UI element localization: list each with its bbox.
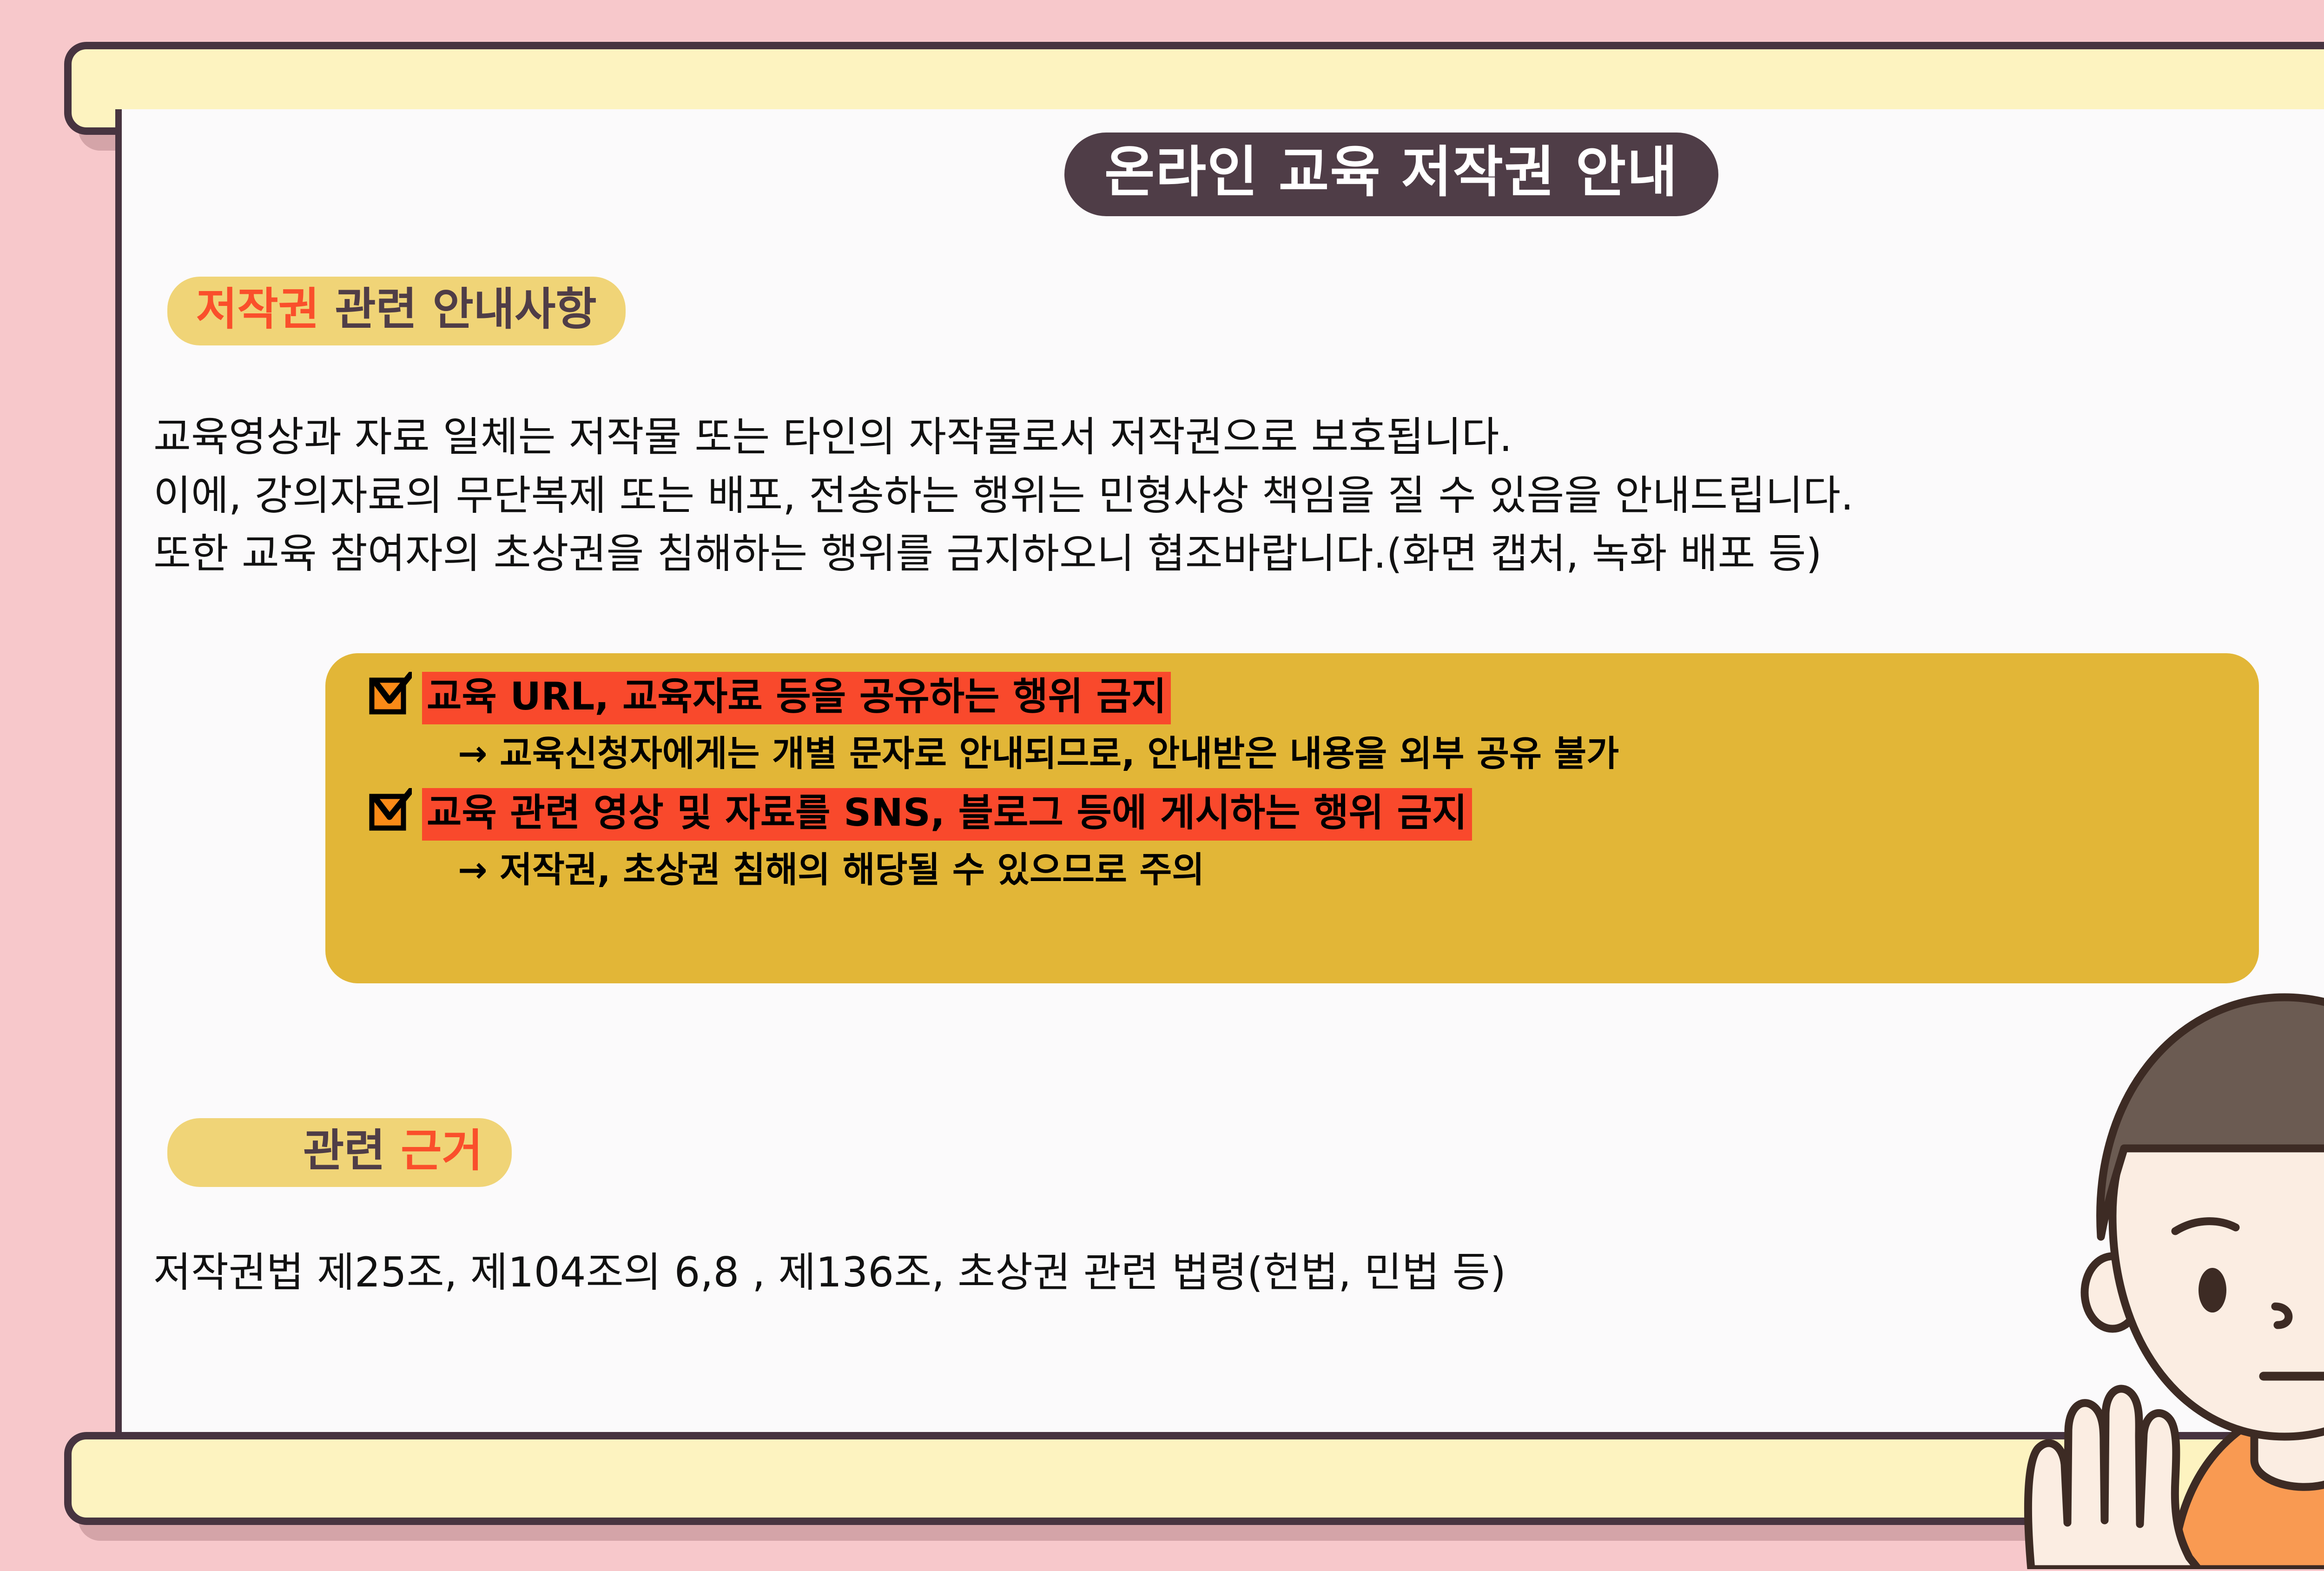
checklist-item-detail: → 저작권, 초상권 침해의 해당될 수 있으므로 주의 (458, 849, 1204, 890)
notice-paragraph: 교육영상과 자료 일체는 저작물 또는 타인의 자작물로서 저작권으로 보호됩니… (153, 409, 2324, 584)
checklist-item: 교육 URL, 교육자료 등을 공유하는 행위 금지 (367, 672, 1171, 724)
checkbox-checked-icon (367, 788, 412, 833)
checklist-item-title: 교육 URL, 교육자료 등을 공유하는 행위 금지 (422, 672, 1171, 724)
section-header-copyright-notice: 저작권 관련 안내사항 (167, 277, 626, 345)
page-title: 온라인 교육 저작권 안내 (1064, 133, 1718, 216)
checklist-item: 교육 관련 영상 및 자료를 SNS, 블로그 등에 게시하는 행위 금지 (367, 788, 1472, 841)
section-header-rest: 관련 안내사항 (319, 283, 597, 335)
checklist-item-title: 교육 관련 영상 및 자료를 SNS, 블로그 등에 게시하는 행위 금지 (422, 788, 1472, 841)
notice-paragraph-line: 교육영상과 자료 일체는 저작물 또는 타인의 자작물로서 저작권으로 보호됩니… (153, 409, 2324, 465)
legal-basis-text: 저작권법 제25조, 제104조의 6,8 , 제136조, 초상권 관련 법령… (153, 1246, 1506, 1299)
boy-stop-gesture-illustration (2013, 939, 2324, 1569)
section-header-accent: 근거 (401, 1125, 483, 1177)
section-header-legal-basis: 관련 근거 (167, 1118, 512, 1187)
notice-paragraph-line: 이에, 강의자료의 무단복제 또는 배포, 전송하는 행위는 민형사상 책임을 … (153, 468, 2324, 524)
bottom-bar (64, 1432, 2324, 1525)
checkbox-checked-icon (367, 672, 412, 716)
notice-paragraph-line: 또한 교육 참여자의 초상권을 침해하는 행위를 금지하오니 협조바랍니다.(화… (153, 526, 2324, 582)
alarm-siren-info-icon (2319, 172, 2324, 432)
prohibition-checklist-box: 교육 URL, 교육자료 등을 공유하는 행위 금지 → 교육신청자에게는 개별… (325, 653, 2259, 983)
section-header-rest: 관련 (303, 1125, 401, 1177)
section-header-accent: 저작권 (196, 283, 319, 335)
checklist-item-detail: → 교육신청자에게는 개별 문자로 안내되므로, 안내받은 내용을 외부 공유 … (458, 733, 1619, 774)
